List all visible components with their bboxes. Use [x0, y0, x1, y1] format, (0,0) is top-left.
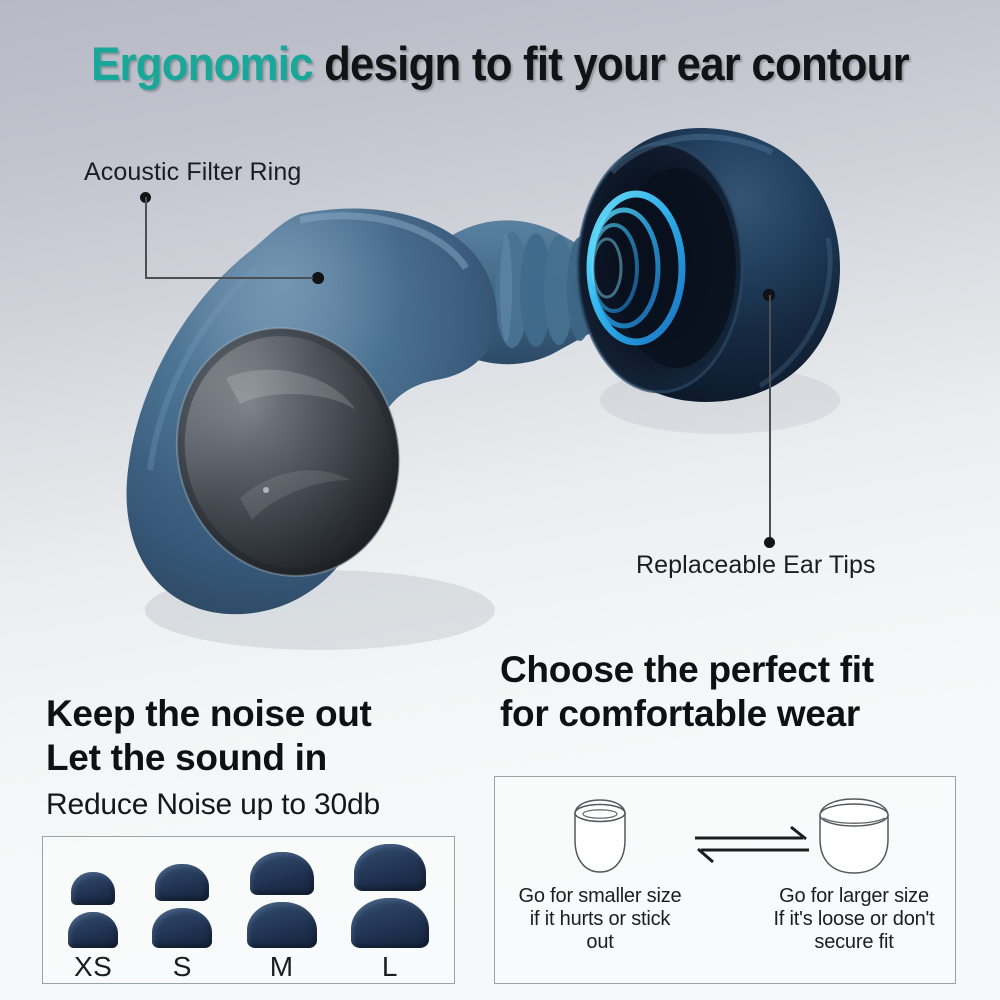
caption-line-3: out: [519, 931, 682, 954]
headline-accent-word: Ergonomic: [91, 37, 313, 90]
ear-tip-solid-bottom: [68, 912, 118, 948]
size-column-s: S: [152, 835, 212, 983]
ear-tip-size-chart: XSSML: [42, 836, 455, 984]
leader-dot-end: [313, 273, 324, 284]
headline-rest: design to fit your ear contour: [313, 37, 909, 90]
leader-line-vertical: [145, 197, 147, 279]
earbud-stem: [430, 220, 596, 364]
large-ear-tip-outline-icon: [805, 793, 903, 879]
size-column-l: L: [351, 835, 429, 983]
size-label: L: [382, 953, 398, 981]
size-columns: XSSML: [43, 837, 454, 983]
caption-line-2: if it hurts or stick: [519, 908, 682, 931]
callout-label-acoustic-filter-ring: Acoustic Filter Ring: [84, 158, 301, 187]
caption-line-2: If it's loose or don't: [773, 908, 934, 931]
acoustic-glow-rings: [590, 194, 682, 342]
fit-guide-larger: Go for larger size If it's loose or don'…: [761, 793, 947, 955]
leader-line-vertical: [769, 295, 771, 542]
earbud-body: [127, 209, 498, 615]
size-column-m: M: [247, 835, 317, 983]
earbud-product-illustration: [0, 0, 1000, 700]
size-label: XS: [74, 953, 112, 981]
noise-headline-line1: Keep the noise out: [46, 692, 466, 736]
ear-tip-solid-top: [71, 872, 115, 905]
size-column-xs: XS: [68, 835, 118, 983]
small-ear-tip-outline-icon: [556, 793, 644, 879]
noise-subtitle: Reduce Noise up to 30db: [46, 788, 466, 822]
earbud-glossy-window: [148, 302, 428, 603]
fit-guide-larger-caption: Go for larger size If it's loose or don'…: [773, 885, 934, 955]
noise-headline-line2: Let the sound in: [46, 736, 466, 780]
fit-heading: Choose the perfect fit for comfortable w…: [500, 648, 874, 735]
ear-tip-solid-bottom: [247, 902, 317, 948]
fit-guide-smaller: Go for smaller size if it hurts or stick…: [507, 793, 693, 955]
ear-tip-pair: [152, 835, 212, 953]
replaceable-ear-tip: [578, 128, 840, 402]
callout-label-replaceable-ear-tips: Replaceable Ear Tips: [636, 551, 876, 580]
fit-heading-line1: Choose the perfect fit: [500, 648, 874, 692]
caption-line-1: Go for larger size: [773, 885, 934, 908]
ear-tip-pair: [351, 835, 429, 953]
leader-line-horizontal: [145, 277, 319, 279]
ear-tip-solid-top: [250, 852, 314, 895]
page-title: Ergonomic design to fit your ear contour: [35, 36, 965, 91]
size-label: M: [270, 953, 294, 981]
fit-heading-line2: for comfortable wear: [500, 692, 874, 736]
fit-guide-box: Go for smaller size if it hurts or stick…: [494, 776, 956, 984]
size-label: S: [173, 953, 192, 981]
ear-tip-solid-bottom: [351, 898, 429, 948]
ear-tip-solid-top: [155, 864, 209, 901]
caption-line-3: secure fit: [773, 931, 934, 954]
ear-tip-solid-bottom: [152, 908, 212, 948]
ear-tip-pair: [68, 835, 118, 953]
fit-guide-smaller-caption: Go for smaller size if it hurts or stick…: [519, 885, 682, 955]
ear-tip-solid-top: [354, 844, 426, 891]
leader-dot-end: [764, 537, 775, 548]
noise-reduction-block: Keep the noise out Let the sound in Redu…: [46, 692, 466, 822]
product-feature-page: Ergonomic design to fit your ear contour: [0, 0, 1000, 1000]
caption-line-1: Go for smaller size: [519, 885, 682, 908]
ear-tip-pair: [247, 835, 317, 953]
